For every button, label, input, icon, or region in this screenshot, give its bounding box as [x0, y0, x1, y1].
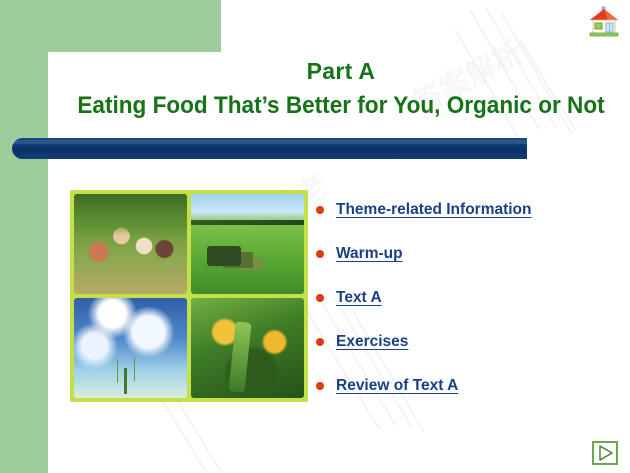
menu-item-exercises[interactable]: Exercises: [316, 320, 616, 364]
bullet-icon: [316, 338, 324, 346]
menu-item-theme-related-information[interactable]: Theme-related Information: [316, 188, 616, 232]
collage-photo-sky: [74, 298, 187, 398]
menu-item-review-of-text-a[interactable]: Review of Text A: [316, 364, 616, 408]
next-button[interactable]: [592, 441, 618, 465]
title-block: Part A Eating Food That’s Better for You…: [52, 52, 630, 120]
green-left-strip: [0, 0, 48, 473]
page-title-main: Eating Food That’s Better for You, Organ…: [69, 92, 612, 120]
collage-photo-people: [74, 194, 187, 294]
bullet-icon: [316, 382, 324, 390]
home-icon[interactable]: [586, 4, 622, 40]
photo-collage: [70, 190, 308, 402]
menu-link-label[interactable]: Text A: [336, 289, 382, 307]
menu-link-label[interactable]: Theme-related Information: [336, 201, 532, 219]
menu-item-warm-up[interactable]: Warm-up: [316, 232, 616, 276]
menu-item-text-a[interactable]: Text A: [316, 276, 616, 320]
menu-link-label[interactable]: Warm-up: [336, 245, 403, 263]
menu-link-label[interactable]: Review of Text A: [336, 377, 458, 395]
bullet-icon: [316, 250, 324, 258]
slide-canvas: 柏冷老 答案解析 Part A Eating Food That’s Bette…: [0, 0, 630, 473]
collage-photo-field: [191, 194, 304, 294]
collage-photo-plant: [191, 298, 304, 398]
menu-link-label[interactable]: Exercises: [336, 333, 408, 351]
section-menu: Theme-related Information Warm-up Text A…: [316, 188, 616, 408]
navy-divider-bar: [12, 138, 527, 159]
green-top-block: [0, 0, 221, 52]
bullet-icon: [316, 206, 324, 214]
bullet-icon: [316, 294, 324, 302]
page-title-part: Part A: [52, 58, 630, 84]
